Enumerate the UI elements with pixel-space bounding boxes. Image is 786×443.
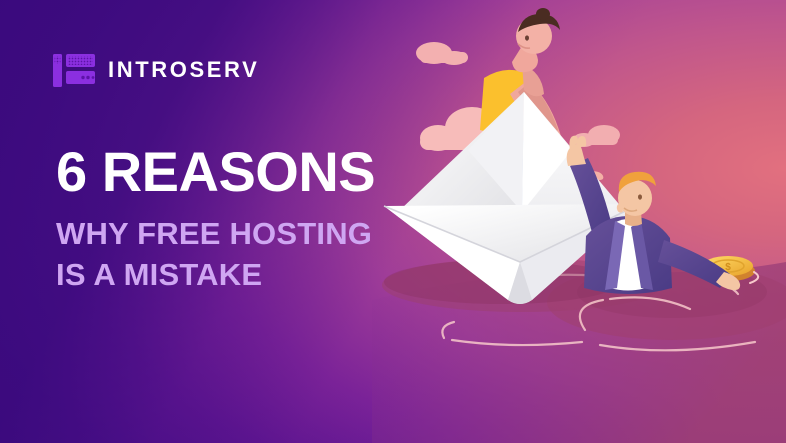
hero-banner: $ $ xyxy=(0,0,786,443)
server-rack-icon xyxy=(53,54,95,87)
page-subtitle-line-1: WHY FREE HOSTING xyxy=(56,214,436,255)
brand-logo[interactable]: INTROSERV xyxy=(53,53,259,87)
page-title: 6 REASONS xyxy=(56,143,436,200)
drowning-businessman xyxy=(567,136,740,294)
brand-name: INTROSERV xyxy=(108,59,259,81)
headline-block: 6 REASONS WHY FREE HOSTING IS A MISTAKE xyxy=(56,143,436,296)
cloud-small-top-left xyxy=(416,42,468,65)
page-subtitle: WHY FREE HOSTING IS A MISTAKE xyxy=(56,214,436,296)
page-subtitle-line-2: IS A MISTAKE xyxy=(56,255,436,296)
